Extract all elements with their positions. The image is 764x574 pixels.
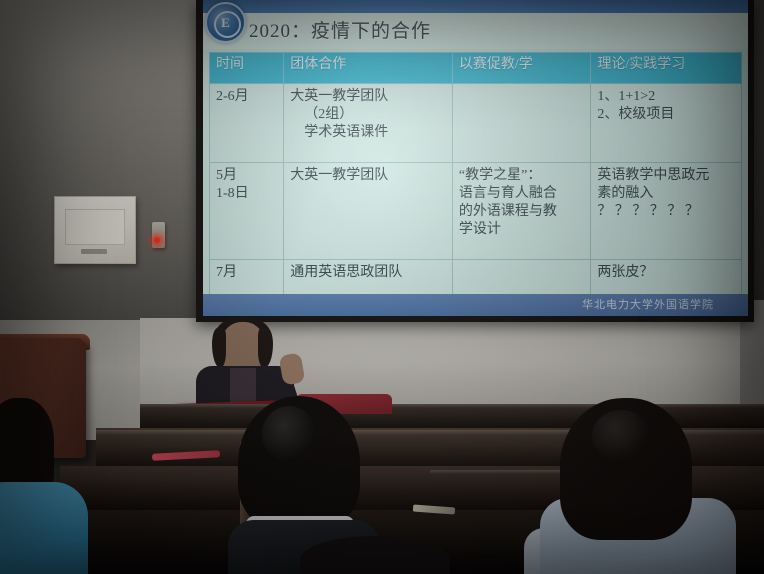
audience-hair-highlight	[262, 406, 316, 462]
cell-theory: 两张皮？	[591, 260, 742, 295]
slide-title: 2020：疫情下的合作	[249, 16, 431, 43]
cell-time: 7月	[210, 260, 284, 295]
cell-line: 大英一教学团队	[290, 88, 446, 106]
cell-line: “教学之星”：	[459, 167, 585, 185]
cell-line: 1、1+1>2	[597, 88, 735, 106]
cell-line: ？ ？ ？ ？ ？ ？	[597, 203, 735, 221]
cell-team: 大英一教学团队 （2组） 学术英语课件	[284, 84, 453, 163]
left-wall-shading	[0, 0, 206, 336]
sensor-led-indicator	[154, 237, 160, 243]
logo-letter: E	[207, 4, 244, 41]
panel-slot	[81, 249, 107, 254]
cell-line: 1-8日	[216, 185, 277, 203]
cell-line: （2组）	[290, 106, 446, 124]
column-header-time: 时间	[210, 53, 284, 84]
cell-line: 通用英语思政团队	[290, 264, 446, 282]
lecture-hall-photo: E 2020：疫情下的合作 时间 团体合作 以赛促教/学 理论/实践学习 2-6…	[0, 0, 764, 574]
audience-member-left-blue-top	[0, 398, 54, 494]
cell-line: 2、校级项目	[597, 106, 735, 124]
cell-team: 通用英语思政团队	[284, 260, 453, 295]
table-row: 2-6月 大英一教学团队 （2组） 学术英语课件 1、1+1>2 2、校级项目	[210, 84, 742, 163]
audience-member-left-body	[0, 482, 88, 574]
slide-table: 时间 团体合作 以赛促教/学 理论/实践学习 2-6月 大英一教学团队 （2组）…	[209, 52, 742, 295]
table-row: 5月 1-8日 大英一教学团队 “教学之星”： 语言与育人融合 的外语课程与教 …	[210, 163, 742, 260]
cell-line: 素的融入	[597, 185, 735, 203]
cell-time: 5月 1-8日	[210, 163, 284, 260]
motion-sensor	[152, 222, 165, 248]
table-row: 7月 通用英语思政团队 两张皮？	[210, 260, 742, 295]
university-logo-icon: E	[205, 2, 246, 43]
cell-line: 大英一教学团队	[290, 167, 446, 185]
cell-line: 两张皮？	[597, 264, 735, 282]
cell-line: 学术英语课件	[290, 124, 446, 142]
projected-slide: E 2020：疫情下的合作 时间 团体合作 以赛促教/学 理论/实践学习 2-6…	[203, 0, 748, 316]
cell-line: 学设计	[459, 221, 585, 239]
table-header-row: 时间 团体合作 以赛促教/学 理论/实践学习	[210, 53, 742, 84]
wall-control-panel[interactable]	[54, 196, 136, 264]
column-header-competition: 以赛促教/学	[452, 53, 591, 84]
presenter-hair-side-right	[258, 328, 273, 368]
slide-footer-text: 华北电力大学外国语学院	[582, 296, 714, 312]
panel-face	[65, 209, 125, 245]
bench-highlight	[140, 404, 764, 408]
slide-top-band	[203, 0, 748, 13]
cell-team: 大英一教学团队	[284, 163, 453, 260]
cell-line: 的外语课程与教	[459, 203, 585, 221]
cell-competition: “教学之星”： 语言与育人融合 的外语课程与教 学设计	[452, 163, 591, 260]
column-header-theory: 理论/实践学习	[591, 53, 742, 84]
cell-line: 英语教学中思政元	[597, 167, 735, 185]
cell-competition	[452, 84, 591, 163]
cell-line: 5月	[216, 167, 277, 185]
cell-theory: 1、1+1>2 2、校级项目	[591, 84, 742, 163]
cell-line: 2-6月	[216, 88, 277, 106]
cell-line: 语言与育人融合	[459, 185, 585, 203]
presenter-hair-side-left	[212, 328, 226, 368]
cell-theory: 英语教学中思政元 素的融入 ？ ？ ？ ？ ？ ？	[591, 163, 742, 260]
column-header-team: 团体合作	[284, 53, 453, 84]
cell-line: 7月	[216, 264, 277, 282]
cell-competition	[452, 260, 591, 295]
cell-time: 2-6月	[210, 84, 284, 163]
audience-hair-highlight	[592, 410, 650, 462]
